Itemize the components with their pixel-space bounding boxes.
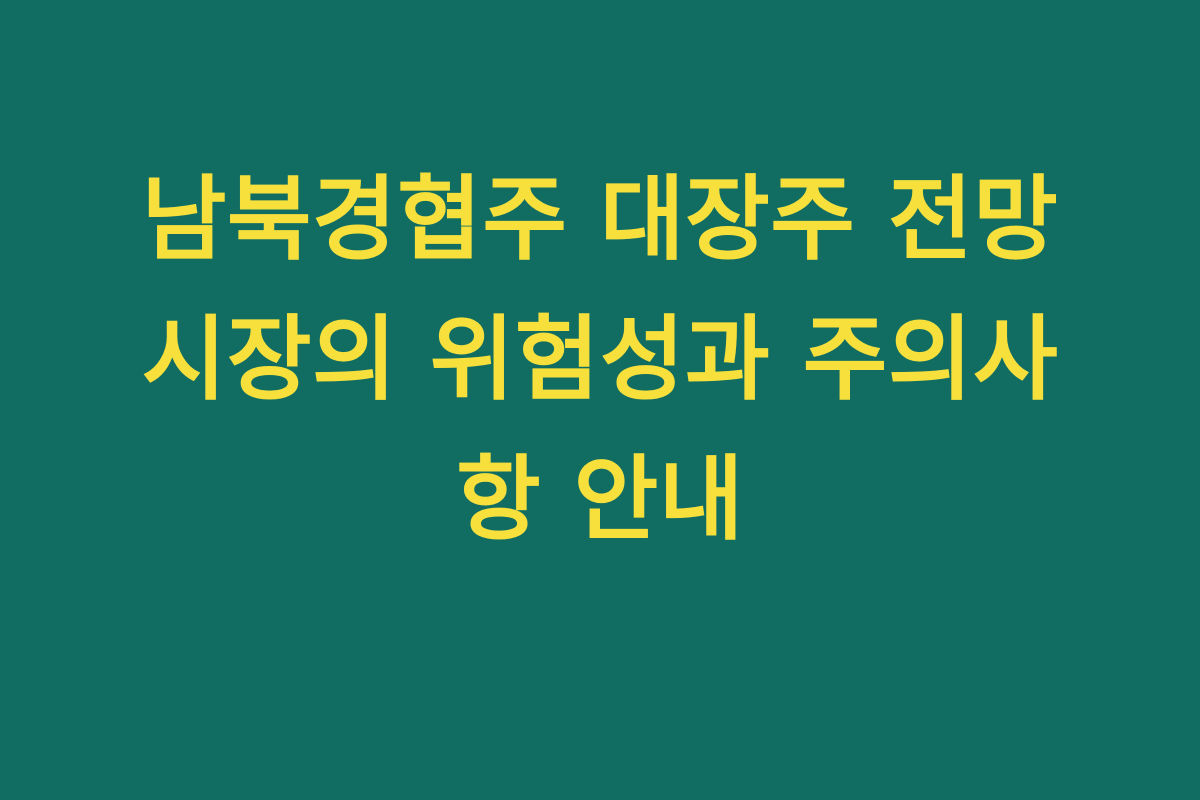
title-line-1: 남북경협주 대장주 전망	[70, 150, 1130, 290]
title-line-2: 시장의 위험성과 주의사	[70, 290, 1130, 430]
title-text-block: 남북경협주 대장주 전망 시장의 위험성과 주의사 항 안내	[70, 150, 1130, 570]
title-card: 남북경협주 대장주 전망 시장의 위험성과 주의사 항 안내	[0, 0, 1200, 800]
title-line-3: 항 안내	[70, 430, 1130, 570]
